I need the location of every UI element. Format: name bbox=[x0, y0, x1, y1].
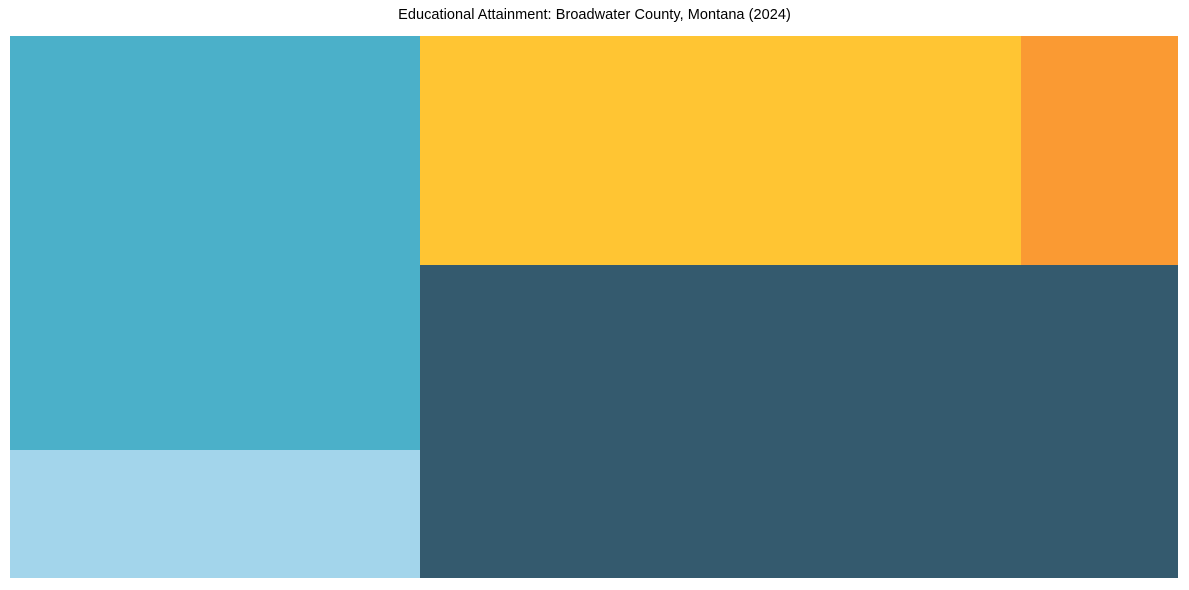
chart-title: Educational Attainment: Broadwater Count… bbox=[0, 6, 1189, 24]
treemap-tile-associates-degree[interactable]: Associate's degree bbox=[10, 450, 420, 578]
treemap-tile-some-college-no-degree[interactable]: Some college, no degree bbox=[420, 265, 1178, 578]
treemap-figure: Educational Attainment: Broadwater Count… bbox=[0, 0, 1189, 590]
treemap-tile-bachelors-degree[interactable]: Bachelor's degree bbox=[420, 36, 1021, 265]
treemap-plot-area: High school graduate (includes equivalen… bbox=[10, 36, 1178, 578]
treemap-tile-high-school-graduate[interactable]: High school graduate (includes equivalen… bbox=[10, 36, 420, 450]
treemap-tile-graduate-professional-degree[interactable]: Graduate or professional degree bbox=[1021, 36, 1178, 265]
